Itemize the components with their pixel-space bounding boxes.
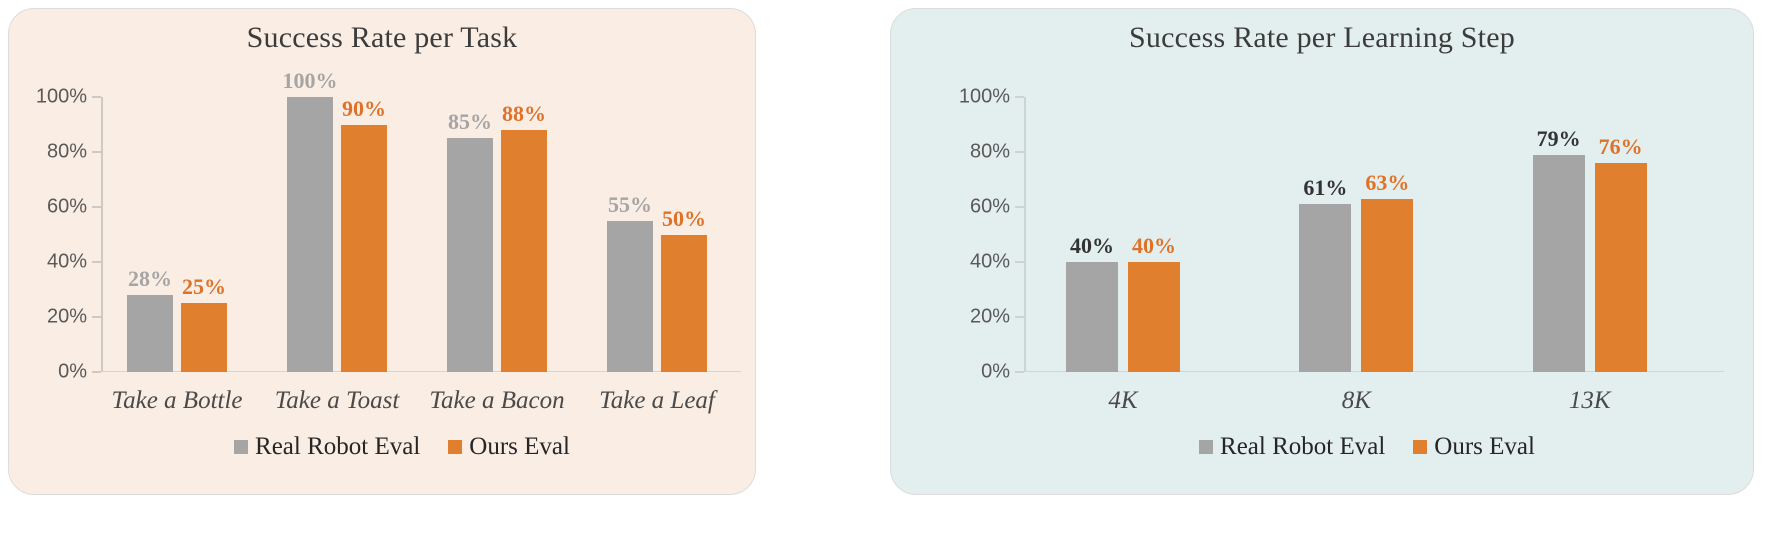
legend-square-marker-orange-icon — [448, 440, 462, 454]
x-axis-category-label: Take a Bacon — [429, 387, 564, 415]
chart-card-success-rate-per-learning-step: Success Rate per Learning Step 0%20%40%6… — [890, 8, 1754, 495]
legend-label: Ours Eval — [469, 433, 570, 461]
bar-group: 55%50% — [581, 97, 741, 372]
legend-item-ours-eval[interactable]: Ours Eval — [1413, 433, 1535, 461]
legend-item-ours-eval[interactable]: Ours Eval — [448, 433, 570, 461]
x-axis-category-label: Take a Bottle — [111, 387, 242, 415]
y-axis-tick-label: 0% — [981, 361, 1010, 384]
bar-real-robot-eval[interactable]: 100% — [287, 97, 333, 372]
bar-real-robot-eval[interactable]: 85% — [447, 138, 493, 372]
bar-real-robot-eval[interactable]: 55% — [607, 221, 653, 372]
y-axis-tick — [1015, 206, 1024, 208]
bar-ours-eval[interactable]: 90% — [341, 125, 387, 373]
bar-value-label: 100% — [283, 70, 338, 92]
bar-real-robot-eval[interactable]: 61% — [1299, 204, 1351, 372]
bar-value-label: 40% — [1132, 235, 1176, 257]
bar-ours-eval[interactable]: 40% — [1128, 262, 1180, 372]
legend-item-real-robot-eval[interactable]: Real Robot Eval — [234, 433, 420, 461]
y-axis-tick — [92, 261, 101, 263]
y-axis-tick — [1015, 371, 1024, 373]
chart-card-success-rate-per-task: Success Rate per Task 0%20%40%60%80%100%… — [8, 8, 756, 495]
y-axis-tick-label: 80% — [47, 141, 87, 164]
x-axis-category-label: Take a Leaf — [599, 387, 715, 415]
y-axis-tick-label: 40% — [970, 251, 1010, 274]
y-axis-tick — [92, 151, 101, 153]
y-axis-tick-label: 80% — [970, 141, 1010, 164]
legend-square-marker-orange-icon — [1413, 440, 1427, 454]
y-axis-tick-label: 60% — [970, 196, 1010, 219]
bar-group: 100%90% — [261, 97, 421, 372]
y-axis-tick — [1015, 261, 1024, 263]
y-axis-tick — [1015, 151, 1024, 153]
bar-value-label: 25% — [182, 276, 226, 298]
x-axis-category-label: 8K — [1342, 387, 1371, 415]
y-axis-tick — [92, 316, 101, 318]
y-axis-tick — [92, 206, 101, 208]
legend-item-real-robot-eval[interactable]: Real Robot Eval — [1199, 433, 1385, 461]
legend-left: Real Robot Eval Ours Eval — [9, 433, 755, 461]
legend-label: Ours Eval — [1434, 433, 1535, 461]
bar-ours-eval[interactable]: 50% — [661, 235, 707, 373]
y-axis-tick — [1015, 316, 1024, 318]
chart-title-right: Success Rate per Learning Step — [891, 21, 1753, 55]
y-axis-tick-label: 100% — [36, 86, 87, 109]
bar-group: 79%76% — [1491, 97, 1724, 372]
plot-area-left: 0%20%40%60%80%100%28%25%100%90%85%88%55%… — [101, 97, 741, 372]
legend-square-marker-gray-icon — [1199, 440, 1213, 454]
x-axis-category-label: 4K — [1108, 387, 1137, 415]
legend-label: Real Robot Eval — [1220, 433, 1385, 461]
bar-group: 85%88% — [421, 97, 581, 372]
bar-value-label: 40% — [1070, 235, 1114, 257]
bar-value-label: 76% — [1599, 136, 1643, 158]
y-axis-tick — [92, 371, 101, 373]
bar-value-label: 28% — [128, 268, 172, 290]
bar-ours-eval[interactable]: 25% — [181, 303, 227, 372]
figure-root: Success Rate per Task 0%20%40%60%80%100%… — [0, 0, 1774, 550]
bar-real-robot-eval[interactable]: 79% — [1533, 155, 1585, 372]
chart-title-left: Success Rate per Task — [9, 21, 755, 55]
bar-value-label: 50% — [662, 208, 706, 230]
bar-ours-eval[interactable]: 88% — [501, 130, 547, 372]
bar-value-label: 85% — [448, 111, 492, 133]
x-axis-category-label: 13K — [1569, 387, 1611, 415]
bar-value-label: 88% — [502, 103, 546, 125]
bar-group: 40%40% — [1024, 97, 1257, 372]
bar-ours-eval[interactable]: 76% — [1595, 163, 1647, 372]
y-axis-tick-label: 100% — [959, 86, 1010, 109]
bar-value-label: 55% — [608, 194, 652, 216]
y-axis-tick-label: 0% — [58, 361, 87, 384]
bar-value-label: 63% — [1365, 172, 1409, 194]
bar-real-robot-eval[interactable]: 28% — [127, 295, 173, 372]
bar-real-robot-eval[interactable]: 40% — [1066, 262, 1118, 372]
legend-right: Real Robot Eval Ours Eval — [891, 433, 1753, 461]
bar-ours-eval[interactable]: 63% — [1361, 199, 1413, 372]
y-axis-tick-label: 60% — [47, 196, 87, 219]
bar-value-label: 79% — [1537, 128, 1581, 150]
bar-group: 61%63% — [1257, 97, 1490, 372]
y-axis-tick — [1015, 96, 1024, 98]
x-axis-category-label: Take a Toast — [275, 387, 400, 415]
bar-value-label: 90% — [342, 98, 386, 120]
y-axis-tick — [92, 96, 101, 98]
bar-value-label: 61% — [1303, 177, 1347, 199]
y-axis-tick-label: 40% — [47, 251, 87, 274]
y-axis-tick-label: 20% — [970, 306, 1010, 329]
legend-label: Real Robot Eval — [255, 433, 420, 461]
y-axis-tick-label: 20% — [47, 306, 87, 329]
plot-area-right: 0%20%40%60%80%100%40%40%61%63%79%76% — [1024, 97, 1724, 372]
legend-square-marker-gray-icon — [234, 440, 248, 454]
bar-group: 28%25% — [101, 97, 261, 372]
